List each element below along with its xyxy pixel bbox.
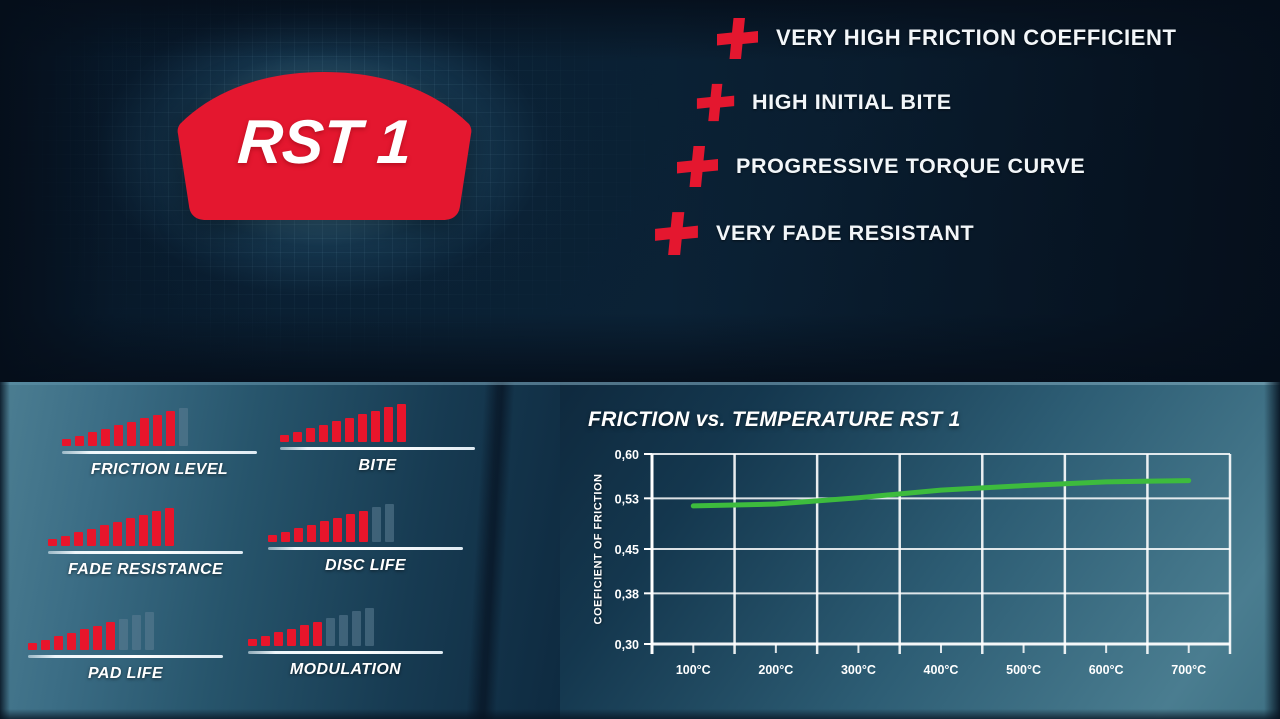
rating-bar-filled bbox=[359, 511, 368, 542]
rating-bar-filled bbox=[61, 536, 70, 546]
chart-series-line bbox=[693, 481, 1188, 506]
rating-bar-filled bbox=[87, 529, 96, 546]
rating-bar-empty bbox=[132, 615, 141, 650]
panel-right-edge bbox=[1264, 382, 1280, 719]
rating-bar-empty bbox=[385, 504, 394, 542]
rating-meter: BITE bbox=[280, 400, 475, 475]
rating-bar-filled bbox=[287, 629, 296, 646]
chart-x-tick-label: 300°C bbox=[841, 663, 876, 677]
rating-bar-filled bbox=[300, 625, 309, 646]
rating-bar-filled bbox=[268, 535, 277, 542]
rating-bar-filled bbox=[294, 528, 303, 542]
plus-icon bbox=[676, 144, 720, 188]
rating-bar-filled bbox=[371, 411, 380, 442]
rating-label: FADE RESISTANCE bbox=[48, 561, 243, 579]
feature-label: VERY HIGH FRICTION COEFFICIENT bbox=[776, 25, 1177, 51]
chart-x-tick-label: 600°C bbox=[1089, 663, 1124, 677]
rating-bar-filled bbox=[280, 435, 289, 442]
rating-bar-filled bbox=[346, 514, 355, 542]
rating-label: MODULATION bbox=[248, 661, 443, 679]
rating-label: DISC LIFE bbox=[268, 557, 463, 575]
rating-label: FRICTION LEVEL bbox=[62, 461, 257, 479]
rating-bar-filled bbox=[306, 428, 315, 442]
plus-icon bbox=[716, 16, 760, 60]
rating-meter: FADE RESISTANCE bbox=[48, 504, 243, 579]
plus-icon bbox=[654, 210, 700, 256]
rating-bar-filled bbox=[62, 439, 71, 446]
rating-bar-filled bbox=[88, 432, 97, 446]
rating-baseline bbox=[268, 547, 463, 550]
rating-baseline bbox=[28, 655, 223, 658]
friction-chart: FRICTION vs. TEMPERATURE RST 1 COEFICIEN… bbox=[588, 408, 1260, 708]
chart-y-tick-label: 0,60 bbox=[615, 448, 639, 462]
rating-baseline bbox=[48, 551, 243, 554]
chart-x-tick-label: 400°C bbox=[924, 663, 959, 677]
rating-bar-filled bbox=[41, 640, 50, 650]
rating-bar-filled bbox=[319, 425, 328, 442]
rating-bar-filled bbox=[345, 418, 354, 442]
rating-bar-filled bbox=[153, 415, 162, 446]
rating-bar-empty bbox=[145, 612, 154, 650]
rating-bar-filled bbox=[75, 436, 84, 446]
feature-item: HIGH INITIAL BITE bbox=[696, 82, 1248, 122]
feature-list: VERY HIGH FRICTION COEFFICIENT HIGH INIT… bbox=[648, 16, 1248, 278]
rating-bar-filled bbox=[384, 407, 393, 442]
feature-item: VERY FADE RESISTANT bbox=[654, 210, 1248, 256]
ratings-grid: FRICTION LEVELBITEFADE RESISTANCEDISC LI… bbox=[0, 382, 500, 719]
rating-bar-empty bbox=[326, 618, 335, 646]
chart-y-tick-label: 0,45 bbox=[615, 543, 639, 557]
rating-bars bbox=[268, 500, 463, 542]
rating-meter: PAD LIFE bbox=[28, 608, 223, 683]
rating-bar-filled bbox=[281, 532, 290, 542]
rating-bar-filled bbox=[320, 521, 329, 542]
rating-bar-filled bbox=[139, 515, 148, 546]
rating-bar-filled bbox=[127, 422, 136, 446]
rating-bar-filled bbox=[248, 639, 257, 646]
rating-bar-filled bbox=[48, 539, 57, 546]
rating-bar-empty bbox=[352, 611, 361, 646]
brake-pad-label-wrap: RST 1 bbox=[172, 66, 477, 226]
chart-y-tick-label: 0,38 bbox=[615, 587, 639, 601]
product-spec-sheet: RST 1 VERY HIGH FRICTION COEFFICIENT bbox=[0, 0, 1280, 719]
rating-bars bbox=[28, 608, 223, 650]
rating-bar-filled bbox=[313, 622, 322, 646]
rating-bar-filled bbox=[166, 411, 175, 446]
product-name: RST 1 bbox=[235, 107, 413, 178]
plus-icon bbox=[696, 82, 736, 122]
rating-bars bbox=[62, 404, 257, 446]
rating-bar-filled bbox=[74, 532, 83, 546]
rating-bar-filled bbox=[333, 518, 342, 542]
rating-bar-filled bbox=[114, 425, 123, 446]
rating-bar-filled bbox=[332, 421, 341, 442]
feature-label: HIGH INITIAL BITE bbox=[752, 90, 952, 115]
chart-title: FRICTION vs. TEMPERATURE RST 1 bbox=[588, 408, 1260, 432]
rating-bar-empty bbox=[365, 608, 374, 646]
rating-bar-filled bbox=[397, 404, 406, 442]
rating-bar-filled bbox=[80, 629, 89, 650]
rating-bar-filled bbox=[126, 518, 135, 546]
chart-plot: 0,300,380,450,530,60100°C200°C300°C400°C… bbox=[606, 446, 1252, 696]
rating-label: BITE bbox=[280, 457, 475, 475]
rating-bar-empty bbox=[339, 615, 348, 646]
feature-label: PROGRESSIVE TORQUE CURVE bbox=[736, 154, 1085, 179]
feature-item: VERY HIGH FRICTION COEFFICIENT bbox=[716, 16, 1248, 60]
rating-bar-filled bbox=[274, 632, 283, 646]
chart-x-tick-label: 700°C bbox=[1171, 663, 1206, 677]
brake-pad-logo: RST 1 bbox=[172, 66, 477, 226]
rating-meter: DISC LIFE bbox=[268, 500, 463, 575]
rating-bar-filled bbox=[261, 636, 270, 646]
rating-bar-filled bbox=[113, 522, 122, 546]
chart-x-tick-label: 100°C bbox=[676, 663, 711, 677]
rating-bar-filled bbox=[293, 432, 302, 442]
rating-meter: FRICTION LEVEL bbox=[62, 404, 257, 479]
rating-label: PAD LIFE bbox=[28, 665, 223, 683]
rating-bar-filled bbox=[140, 418, 149, 446]
rating-bar-empty bbox=[119, 619, 128, 650]
rating-baseline bbox=[280, 447, 475, 450]
rating-bar-filled bbox=[100, 525, 109, 546]
chart-y-axis-label: COEFICIENT OF FRICTION bbox=[590, 446, 606, 651]
rating-bars bbox=[48, 504, 243, 546]
chart-y-axis-label-text: COEFICIENT OF FRICTION bbox=[592, 473, 604, 624]
rating-baseline bbox=[248, 651, 443, 654]
chart-area: COEFICIENT OF FRICTION 0,300,380,450,530… bbox=[588, 446, 1252, 696]
rating-meter: MODULATION bbox=[248, 604, 443, 679]
rating-bar-filled bbox=[28, 643, 37, 650]
rating-bar-filled bbox=[358, 414, 367, 442]
hero-section: RST 1 VERY HIGH FRICTION COEFFICIENT bbox=[0, 0, 1280, 382]
rating-bar-filled bbox=[93, 626, 102, 650]
rating-bar-filled bbox=[152, 511, 161, 546]
rating-bars bbox=[280, 400, 475, 442]
rating-bar-empty bbox=[179, 408, 188, 446]
bottom-panel: FRICTION LEVELBITEFADE RESISTANCEDISC LI… bbox=[0, 382, 1280, 719]
rating-bar-filled bbox=[101, 429, 110, 446]
chart-x-tick-label: 500°C bbox=[1006, 663, 1041, 677]
rating-bar-filled bbox=[165, 508, 174, 546]
rating-bar-filled bbox=[54, 636, 63, 650]
rating-baseline bbox=[62, 451, 257, 454]
chart-x-tick-label: 200°C bbox=[758, 663, 793, 677]
chart-y-tick-label: 0,53 bbox=[615, 492, 639, 506]
feature-label: VERY FADE RESISTANT bbox=[716, 221, 974, 246]
rating-bar-filled bbox=[307, 525, 316, 542]
rating-bar-filled bbox=[106, 622, 115, 650]
rating-bars bbox=[248, 604, 443, 646]
rating-bar-empty bbox=[372, 507, 381, 542]
chart-y-tick-label: 0,30 bbox=[615, 638, 639, 652]
feature-item: PROGRESSIVE TORQUE CURVE bbox=[676, 144, 1248, 188]
rating-bar-filled bbox=[67, 633, 76, 650]
